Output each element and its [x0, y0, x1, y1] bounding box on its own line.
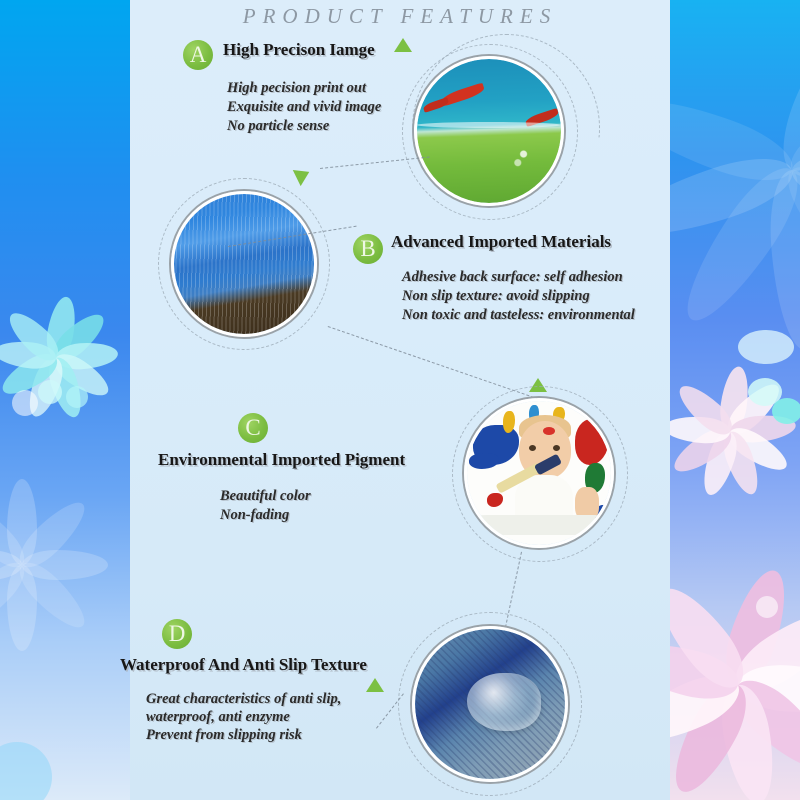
- right-blob-2: [772, 398, 800, 424]
- left-blob-1: [12, 390, 38, 416]
- feature-a-badge: A: [183, 40, 213, 70]
- feature-c-heading: Environmental Imported Pigment: [158, 450, 405, 470]
- right-blob-4: [756, 596, 778, 618]
- feature-a-arrow-icon: [394, 38, 412, 52]
- baby-painting-photo: [467, 401, 611, 545]
- right-blob-3: [738, 330, 794, 364]
- left-decorative-border: [0, 0, 140, 800]
- right-decorative-border: [660, 0, 800, 800]
- feature-b-line-1: Adhesive back surface: self adhesion: [402, 268, 623, 287]
- feature-d-photo: [398, 612, 582, 796]
- feature-b-image-ring: [171, 191, 317, 337]
- left-blob-4: [0, 742, 52, 800]
- feature-c-image-ring: [464, 398, 614, 548]
- content-panel: PRODUCT FEATURES A High Precison Iamge H…: [130, 0, 670, 800]
- feature-b-photo: [158, 178, 330, 350]
- feature-a-line-2: Exquisite and vivid image: [227, 98, 381, 117]
- feature-c-badge: C: [238, 413, 268, 443]
- feature-d-badge: D: [162, 619, 192, 649]
- feature-a-line-1: High pecision print out: [227, 79, 366, 98]
- page-title: PRODUCT FEATURES: [130, 4, 670, 29]
- feature-d-arrow-icon: [366, 678, 384, 692]
- feature-c-line-1: Beautiful color: [220, 487, 311, 506]
- feature-d-image-ring: [412, 626, 568, 782]
- feature-d-line-1: Great characteristics of anti slip,: [146, 690, 341, 709]
- product-features-poster: PRODUCT FEATURES A High Precison Iamge H…: [0, 0, 800, 800]
- feature-a-line-3: No particle sense: [227, 117, 329, 136]
- blue-fabric-texture-photo: [174, 194, 314, 334]
- feature-c-photo: [452, 386, 628, 562]
- left-blob-3: [66, 386, 88, 408]
- water-droplet-photo: [415, 629, 565, 779]
- feature-b-heading: Advanced Imported Materials: [391, 232, 611, 252]
- feature-d-line-2: waterproof, anti enzyme: [146, 708, 290, 727]
- feature-d-line-3: Prevent from slipping risk: [146, 726, 302, 745]
- feature-a-heading: High Precison Iamge: [223, 40, 375, 60]
- feature-d-heading: Waterproof And Anti Slip Texture: [120, 655, 367, 675]
- feature-c-line-2: Non-fading: [220, 506, 289, 525]
- left-blob-2: [38, 380, 62, 404]
- feature-b-line-2: Non slip texture: avoid slipping: [402, 287, 590, 306]
- feature-b-badge: B: [353, 234, 383, 264]
- feature-b-line-3: Non toxic and tasteless: environmental: [402, 306, 635, 325]
